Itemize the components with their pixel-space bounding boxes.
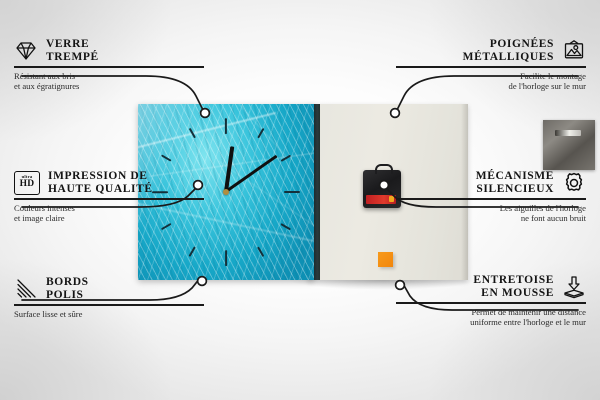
mechanism-hanging-loop [375,164,393,174]
clock-center-hub [223,189,229,195]
feature-subtitle-line2: et image claire [14,213,204,223]
hanger-slot [555,130,581,136]
feature-title-line1: IMPRESSION DE [48,170,153,183]
clock-tick [284,191,300,193]
clock-tick [225,118,227,134]
feature-subtitle-line1: Facilite le montage [396,71,586,81]
feature-title-line2: TREMPÉ [46,51,99,64]
feature-divider [396,302,586,304]
gear-icon [562,171,586,195]
metal-hanger-plate [543,120,595,170]
ultra-hd-icon-main-text: HD [20,180,35,190]
clock-glass-edge [314,104,320,280]
feature-title-line2: POLIS [46,289,89,302]
feature-subtitle-line2: et aux égratignures [14,81,204,91]
infographic-canvas: VERRE TREMPÉ Résistant aux bris et aux é… [0,0,600,400]
feature-subtitle-line1: Résistant aux bris [14,71,204,81]
feature-title-line2: HAUTE QUALITÉ [48,183,153,196]
feather-streak [138,112,276,150]
feature-bords-polis: BORDS POLIS Surface lisse et sûre [14,276,204,319]
feather-streak [218,161,314,229]
feature-divider [14,198,204,200]
feature-title-line1: ENTRETOISE [473,274,554,287]
feature-impression-haute-qualite: ultra HD IMPRESSION DE HAUTE QUALITÉ Cou… [14,170,204,223]
clock-tick [161,223,171,230]
feature-title-line1: MÉCANISME [476,170,554,183]
clock-tick [280,223,290,230]
feature-entretoise-en-mousse: ENTRETOISE EN MOUSSE Permet de maintenir… [396,274,586,327]
diamond-icon [14,39,38,63]
feature-subtitle-line2: de l'horloge sur le mur [396,81,586,91]
feature-title-line1: BORDS [46,276,89,289]
clock-tick [161,154,171,161]
foam-spacer-icon [562,275,586,299]
feature-poignees-metalliques: POIGNÉES MÉTALLIQUES Facilite le montage… [396,38,586,91]
feature-subtitle-line1: Les aiguilles de l'horloge [396,203,586,213]
feature-subtitle-line1: Surface lisse et sûre [14,309,204,319]
polished-edges-icon [14,277,38,301]
feature-title-line1: VERRE [46,38,99,51]
feature-divider [14,304,204,306]
feature-title-line2: MÉTALLIQUES [463,51,554,64]
battery [366,195,396,204]
feature-mecanisme-silencieux: MÉCANISME SILENCIEUX Les aiguilles de l'… [396,170,586,223]
clock-tick [188,246,195,256]
feature-title-line2: SILENCIEUX [476,183,554,196]
feature-subtitle-line2: uniforme entre l'horloge et le mur [396,317,586,327]
clock-tick [257,246,264,256]
feature-divider [14,66,204,68]
feature-verre-trempe: VERRE TREMPÉ Résistant aux bris et aux é… [14,38,204,91]
feature-title-line2: EN MOUSSE [473,287,554,300]
framed-picture-icon [562,39,586,63]
foam-spacer [378,252,393,267]
feature-subtitle-line1: Permet de maintenir une distance [396,307,586,317]
feature-title-line1: POIGNÉES [463,38,554,51]
feature-subtitle-line1: Couleurs intenses [14,203,204,213]
ultra-hd-icon: ultra HD [14,171,40,195]
feature-subtitle-line2: ne font aucun bruit [396,213,586,223]
feature-divider [396,66,586,68]
clock-tick [225,250,227,266]
feature-divider [396,198,586,200]
